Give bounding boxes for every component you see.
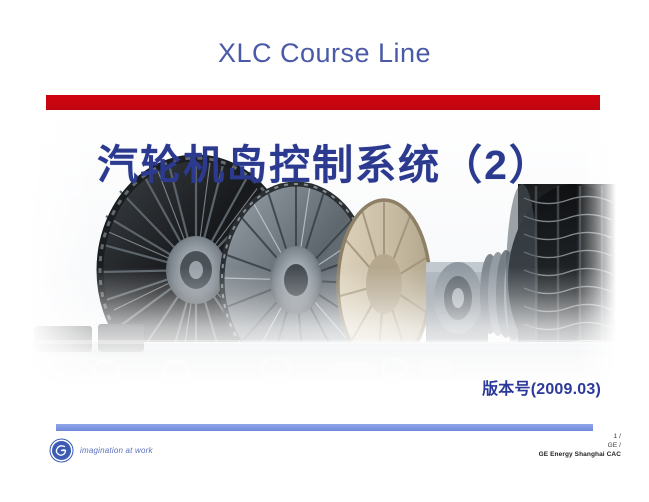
course-line-title: XLC Course Line — [0, 38, 649, 69]
page-number: 1 / — [539, 433, 621, 442]
ge-branding: imagination at work — [49, 438, 153, 463]
ge-tagline: imagination at work — [80, 446, 153, 455]
footer-meta: 1 / GE / GE Energy Shanghai CAC — [539, 433, 621, 459]
main-title: 汽轮机岛控制系统（2） — [0, 131, 649, 191]
red-accent-bar — [46, 95, 600, 110]
version-label: 版本号(2009.03) — [482, 375, 601, 399]
footer-accent-bar — [56, 424, 593, 431]
presentation-slide: XLC Course Line — [0, 0, 649, 502]
ge-logo-icon — [49, 438, 74, 463]
organization-name: GE Energy Shanghai CAC — [539, 451, 621, 460]
company-short: GE / — [539, 442, 621, 451]
